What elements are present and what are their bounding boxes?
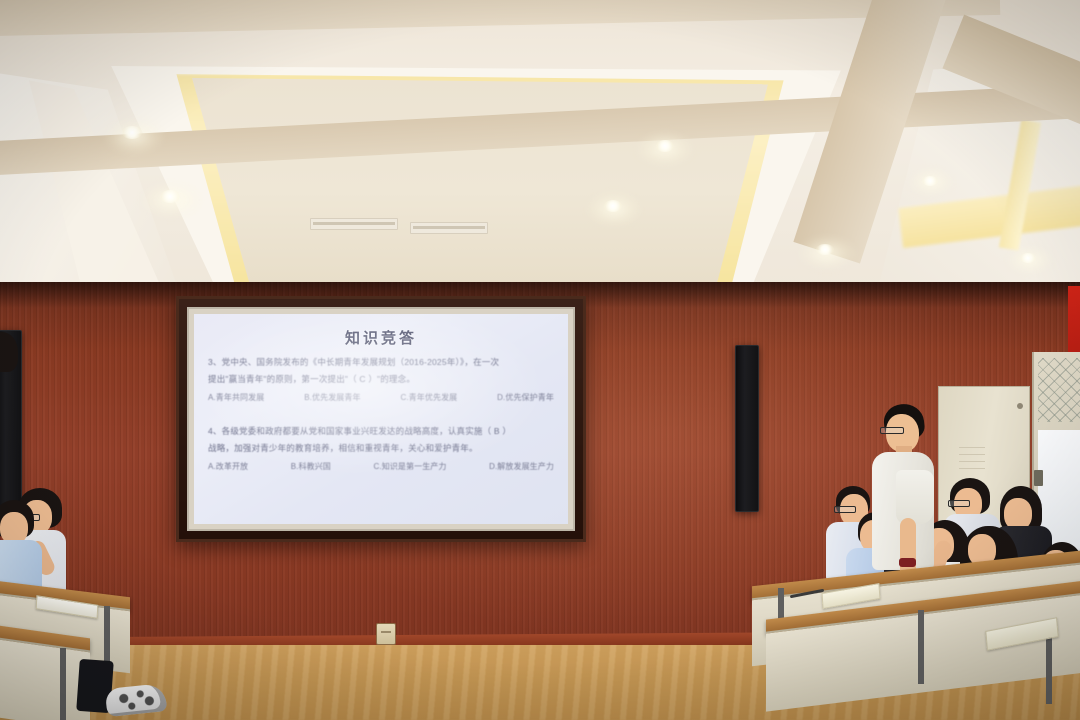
question-3-line-1: 3、党中央、国务院发布的《中长期青年发展规划（2016-2025年）》，在一次 [208,358,554,367]
slide-title: 知识竞答 [194,327,568,348]
screen-bezel: 知识竞答 3、党中央、国务院发布的《中长期青年发展规划（2016-2025年）》… [187,307,575,531]
glasses-icon [834,506,856,513]
question-3-option-d: D.优先保护青年 [497,392,554,403]
question-3-option-b: B.优先发展青年 [304,392,360,403]
question-4-option-a: A.改革开放 [208,461,248,472]
question-4-options: A.改革开放 B.科教兴国 C.知识是第一生产力 D.解放发展生产力 [208,461,554,472]
screen-surface: 知识竞答 3、党中央、国务院发布的《中长期青年发展规划（2016-2025年）》… [194,314,568,524]
door-surface-marks [959,447,985,448]
wall-outlet-plate [376,623,396,645]
downlight-icon-1 [122,126,142,139]
slide-spacer [194,403,568,417]
downlight-icon-3 [656,140,674,152]
wall-speaker-right [735,345,759,512]
slide-question-3: 3、党中央、国务院发布的《中长期青年发展规划（2016-2025年）》，在一次 … [208,358,554,403]
question-3-options: A.青年共同发展 B.优先发展青年 C.青年优先发展 D.优先保护青年 [208,392,554,403]
question-4-line-2: 战略，加强对青少年的教育培养，相信和重视青年，关心和爱护青年。 [208,444,554,453]
downlight-icon-2 [160,190,180,203]
question-3-option-a: A.青年共同发展 [208,392,264,403]
ceiling-vent-1 [310,218,398,230]
desk-leg [918,610,924,684]
door-knob-icon[interactable] [1017,403,1023,409]
ceiling-vent-2 [410,222,488,234]
sleeve [896,470,934,524]
classroom-photo: 知识竞答 3、党中央、国务院发布的《中长期青年发展规划（2016-2025年）》… [0,0,1080,720]
question-3-option-c: C.青年优先发展 [400,392,457,403]
window-lattice-transom [1038,358,1080,422]
slide-question-4: 4、各级党委和政府都要从党和国家事业兴旺发达的战略高度，认真实施（ B ） 战略… [208,427,554,472]
glasses-icon [948,500,970,507]
downlight-icon-4 [604,200,622,212]
projection-screen[interactable]: 知识竞答 3、党中央、国务院发布的《中长期青年发展规划（2016-2025年）》… [176,296,586,542]
question-4-option-b: B.科教兴国 [291,461,331,472]
downlight-icon-5 [816,244,834,255]
ceiling-beam-top [0,0,1000,37]
question-4-option-c: C.知识是第一生产力 [374,461,447,472]
downlight-icon-6 [922,176,938,186]
question-3-line-2: 提出"赢当青年"的原则，第一次提出"（ C ）"的理念。 [208,375,554,384]
glasses-icon [880,427,904,434]
window-latch-upper[interactable] [1034,470,1043,486]
question-4-option-d: D.解放发展生产力 [489,461,554,472]
downlight-icon-7 [1020,253,1036,263]
question-4-line-1: 4、各级党委和政府都要从党和国家事业兴旺发达的战略高度，认真实施（ B ） [208,427,554,436]
desk-leg [60,648,66,720]
ceiling [0,0,1080,292]
desk-leg [1046,632,1052,704]
wristwatch [899,558,916,567]
